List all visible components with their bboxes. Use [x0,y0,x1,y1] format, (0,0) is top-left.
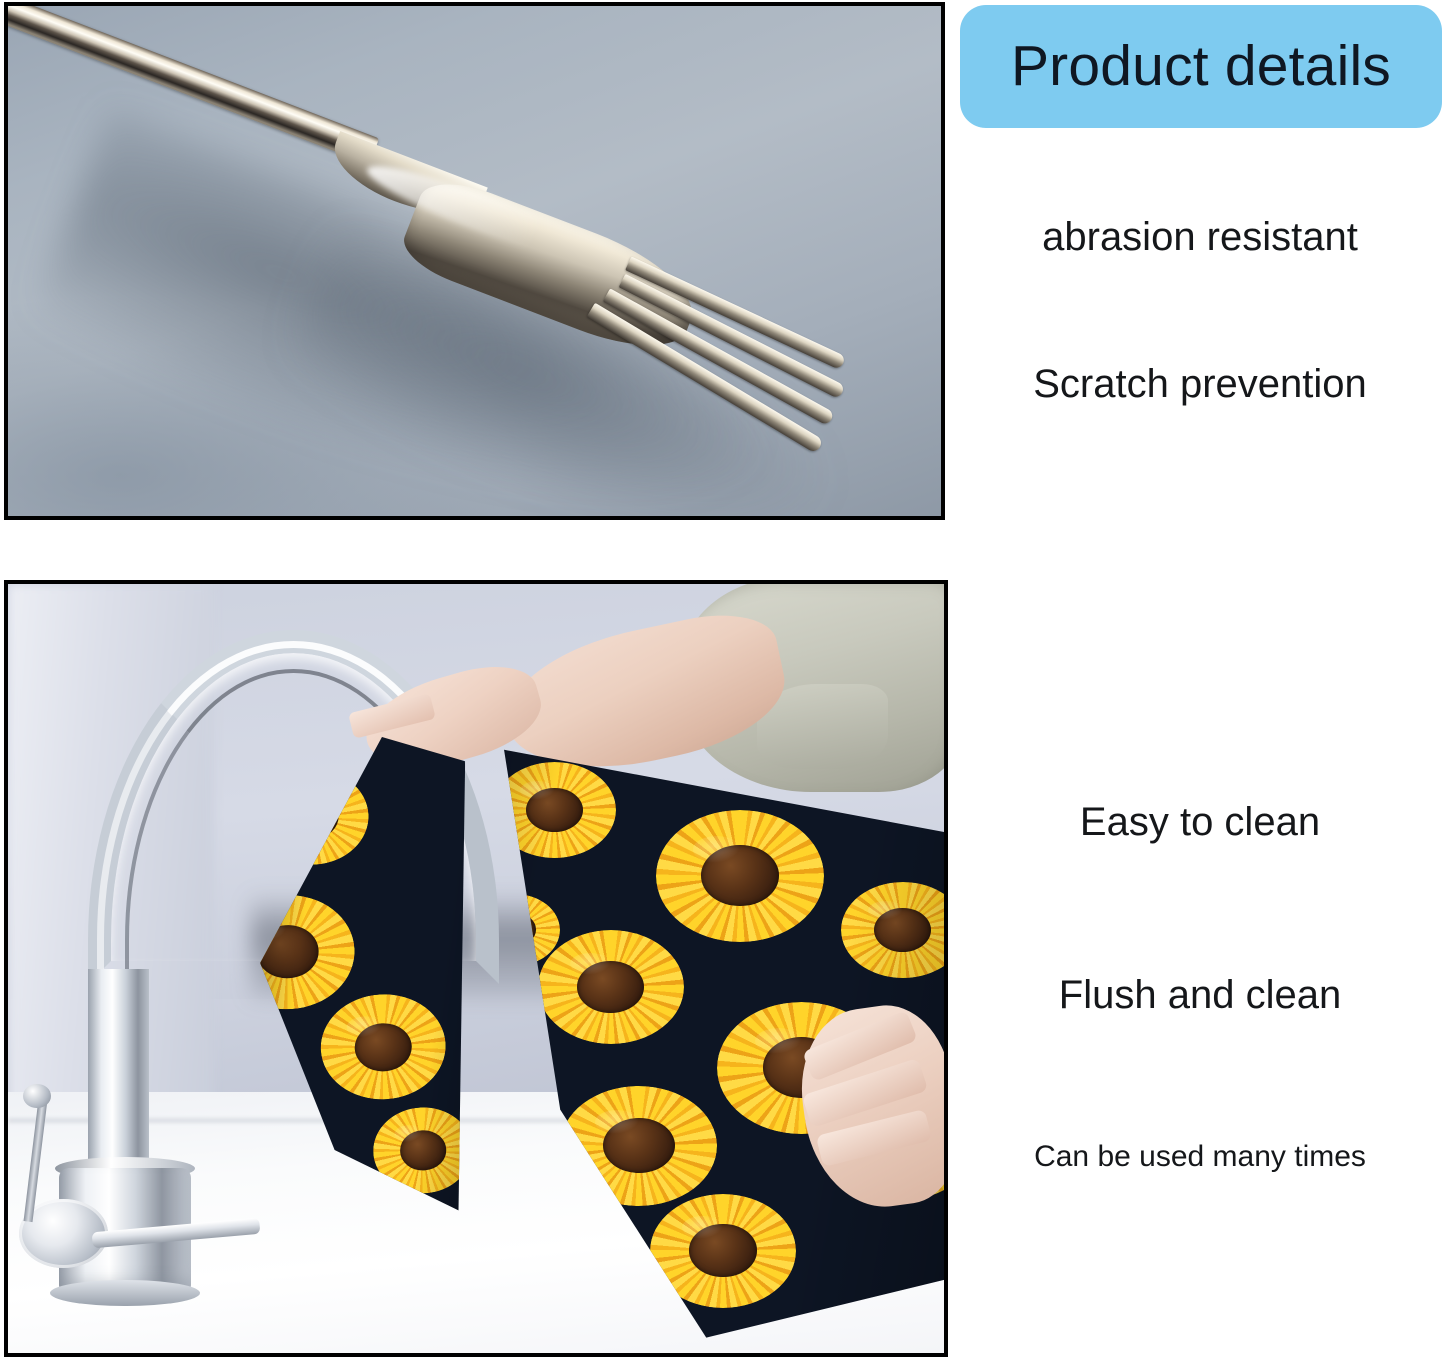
faucet-column [88,969,150,1184]
sunflower-bloom [841,882,944,978]
feature-abrasion-resistant: abrasion resistant [955,215,1445,259]
product-details-badge: Product details [960,5,1442,128]
product-photo-column [0,0,955,1363]
feature-easy-to-clean: Easy to clean [955,800,1445,844]
feature-text-column: Product details abrasion resistant Scrat… [955,0,1445,1363]
sunflower-bloom [538,930,684,1044]
feature-flush-and-clean: Flush and clean [955,973,1445,1017]
sunflower-bloom [318,991,448,1102]
photo-sunflower-mat-over-faucet [4,580,948,1357]
feature-can-be-used-many-times: Can be used many times [955,1140,1445,1173]
product-details-page: Product details abrasion resistant Scrat… [0,0,1445,1363]
product-details-title: Product details [1011,38,1391,95]
sunflower-bloom [656,810,824,942]
sink-photo-canvas [8,584,944,1353]
faucet-base-ring [50,1280,200,1306]
fork-photo-canvas [8,6,941,516]
photo-fork-on-grey-surface [4,2,945,520]
feature-scratch-prevention: Scratch prevention [955,362,1445,406]
